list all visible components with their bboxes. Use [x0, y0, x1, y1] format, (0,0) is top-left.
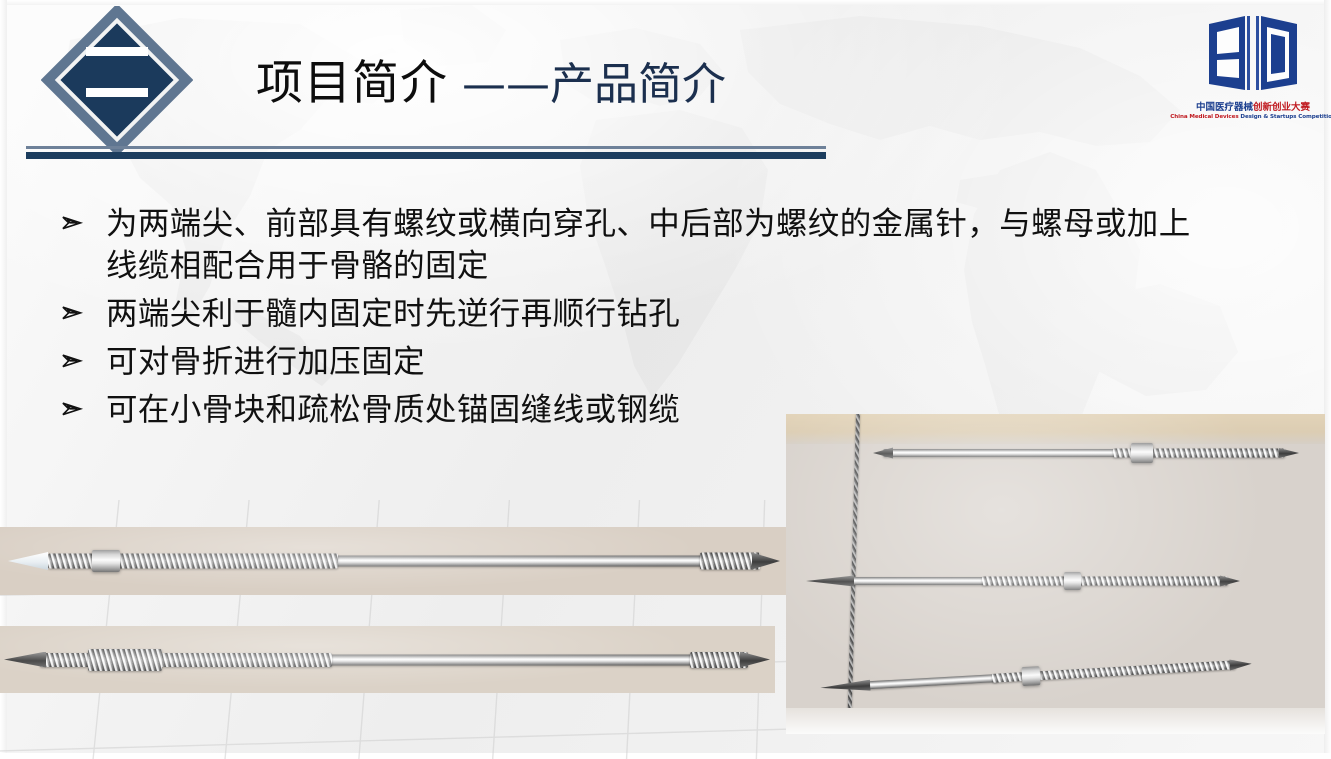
- photo-pins-with-cable-content: [786, 414, 1325, 734]
- competition-logo-name-en-a: China Medical Devices: [1170, 114, 1238, 120]
- title-sub-text: ——产品简介: [448, 59, 726, 110]
- chevron-bullet-icon: ➢: [60, 204, 106, 236]
- photo-pin-threaded-content: [0, 626, 775, 693]
- photo-pins-with-cable: [786, 414, 1325, 734]
- competition-logo-name-cn: 中国医疗器械创新创业大赛: [1196, 103, 1310, 114]
- bullet-list: ➢ 为两端尖、前部具有螺纹或横向穿孔、中后部为螺纹的金属针，与螺母或加上线缆相配…: [60, 204, 1220, 437]
- photo-pin-with-nut: [0, 527, 786, 595]
- list-item-text: 两端尖利于髓内固定时先逆行再顺行钻孔: [106, 294, 680, 336]
- list-item: ➢ 可对骨折进行加压固定: [60, 342, 1220, 384]
- title-rule-thin: [26, 146, 826, 149]
- chevron-bullet-icon: ➢: [60, 294, 106, 326]
- slide-border-top: [0, 0, 1331, 5]
- competition-logo-name-en-b: Design & Startups Competition: [1240, 114, 1331, 120]
- list-item-text: 可在小骨块和疏松骨质处锚固缝线或钢缆: [106, 390, 680, 432]
- competition-logo-name-cn-b: 创新创业大赛: [1253, 102, 1310, 113]
- photo-pin-threaded: [0, 626, 775, 693]
- list-item: ➢ 两端尖利于髓内固定时先逆行再顺行钻孔: [60, 294, 1220, 336]
- page-title: 项目简介 ——产品简介: [256, 60, 726, 107]
- competition-logo-name-en: China Medical Devices Design & Startups …: [1170, 114, 1331, 121]
- list-item: ➢ 为两端尖、前部具有螺纹或横向穿孔、中后部为螺纹的金属针，与螺母或加上线缆相配…: [60, 204, 1220, 288]
- competition-logo: 中国医疗器械创新创业大赛 China Medical Devices Desig…: [1189, 12, 1317, 152]
- diamond-emblem-icon: [41, 6, 193, 154]
- list-item-text: 可对骨折进行加压固定: [106, 342, 425, 384]
- open-door-logo-icon: [1201, 12, 1305, 100]
- competition-logo-name-cn-a: 中国医疗器械: [1196, 102, 1253, 113]
- chevron-bullet-icon: ➢: [60, 390, 106, 422]
- title-rule-thick: [26, 152, 826, 159]
- title-main-text: 项目简介: [256, 56, 448, 111]
- photo-pin-with-nut-content: [0, 527, 786, 595]
- chevron-bullet-icon: ➢: [60, 342, 106, 374]
- list-item-text: 为两端尖、前部具有螺纹或横向穿孔、中后部为螺纹的金属针，与螺母或加上线缆相配合用…: [106, 204, 1220, 288]
- slide-canvas: 项目简介 ——产品简介 中国医疗器械创新创业大赛 China Medical D…: [0, 0, 1331, 759]
